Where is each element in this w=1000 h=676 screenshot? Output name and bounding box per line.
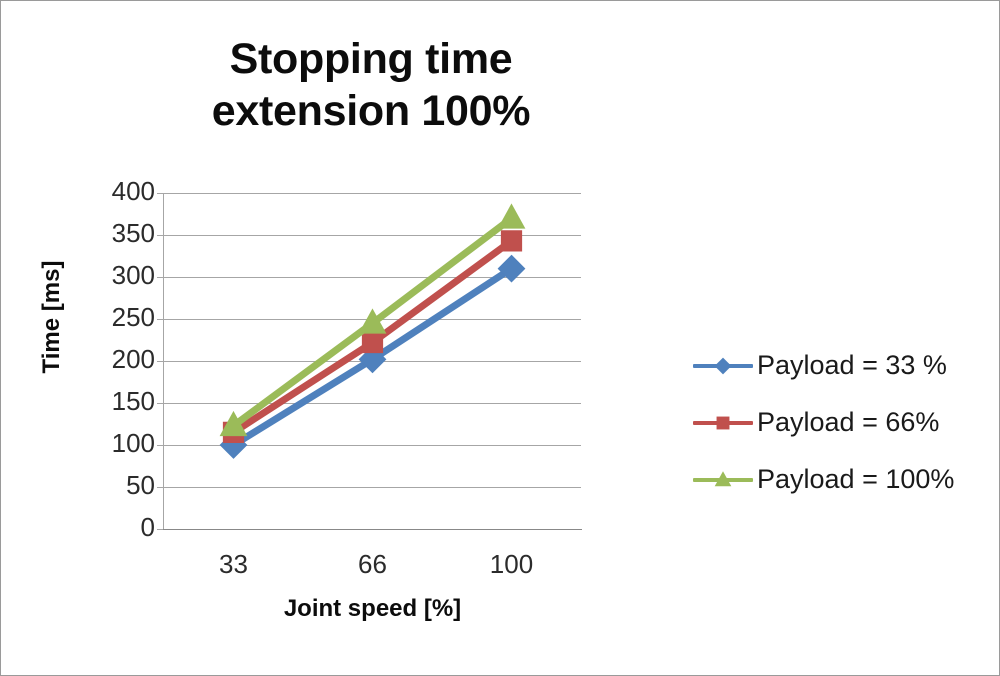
y-axis-line	[163, 193, 164, 530]
gridline	[164, 361, 581, 362]
x-axis-tick-label: 33	[219, 549, 248, 580]
chart-title-line-2: extension 100%	[121, 85, 621, 137]
x-axis-line	[163, 529, 582, 530]
x-axis-tick-labels: 3366100	[164, 549, 581, 583]
y-axis-tick-label: 50	[126, 470, 155, 501]
plot-area	[164, 193, 581, 529]
gridline	[164, 235, 581, 236]
legend-marker-triangle	[693, 469, 753, 491]
legend-item[interactable]: Payload = 100%	[693, 451, 993, 508]
y-axis-tick-label: 150	[112, 386, 155, 417]
legend-item-label: Payload = 100%	[757, 464, 954, 495]
legend-key-marker	[711, 411, 735, 435]
gridline	[164, 487, 581, 488]
y-axis-title: Time [ms]	[38, 247, 66, 387]
chart-legend: Payload = 33 %Payload = 66%Payload = 100…	[693, 337, 993, 508]
legend-item-label: Payload = 33 %	[757, 350, 947, 381]
y-axis-tick-label: 250	[112, 302, 155, 333]
y-axis-tick-label: 200	[112, 344, 155, 375]
y-axis-tick-label: 100	[112, 428, 155, 459]
legend-marker-square	[693, 412, 753, 434]
legend-key-marker	[711, 468, 735, 492]
gridline	[164, 277, 581, 278]
gridline	[164, 319, 581, 320]
gridline	[164, 445, 581, 446]
y-axis-tick-label: 300	[112, 260, 155, 291]
gridline	[164, 193, 581, 194]
gridline	[164, 403, 581, 404]
y-axis-tick-label: 0	[141, 512, 155, 543]
y-axis-tick-labels: 400350300250200150100500	[79, 193, 155, 529]
x-axis-title: Joint speed [%]	[164, 595, 581, 623]
legend-item-label: Payload = 66%	[757, 407, 939, 438]
chart-container: Stopping time extension 100% Time [ms] 4…	[0, 0, 1000, 676]
chart-title-line-1: Stopping time	[121, 33, 621, 85]
y-axis-tick-label: 350	[112, 218, 155, 249]
legend-item[interactable]: Payload = 33 %	[693, 337, 993, 394]
x-axis-tick-label: 66	[358, 549, 387, 580]
legend-marker-diamond	[693, 355, 753, 377]
x-axis-tick-label: 100	[490, 549, 533, 580]
legend-key-marker	[711, 354, 735, 378]
legend-item[interactable]: Payload = 66%	[693, 394, 993, 451]
chart-title: Stopping time extension 100%	[121, 33, 621, 138]
y-axis-tick-label: 400	[112, 176, 155, 207]
